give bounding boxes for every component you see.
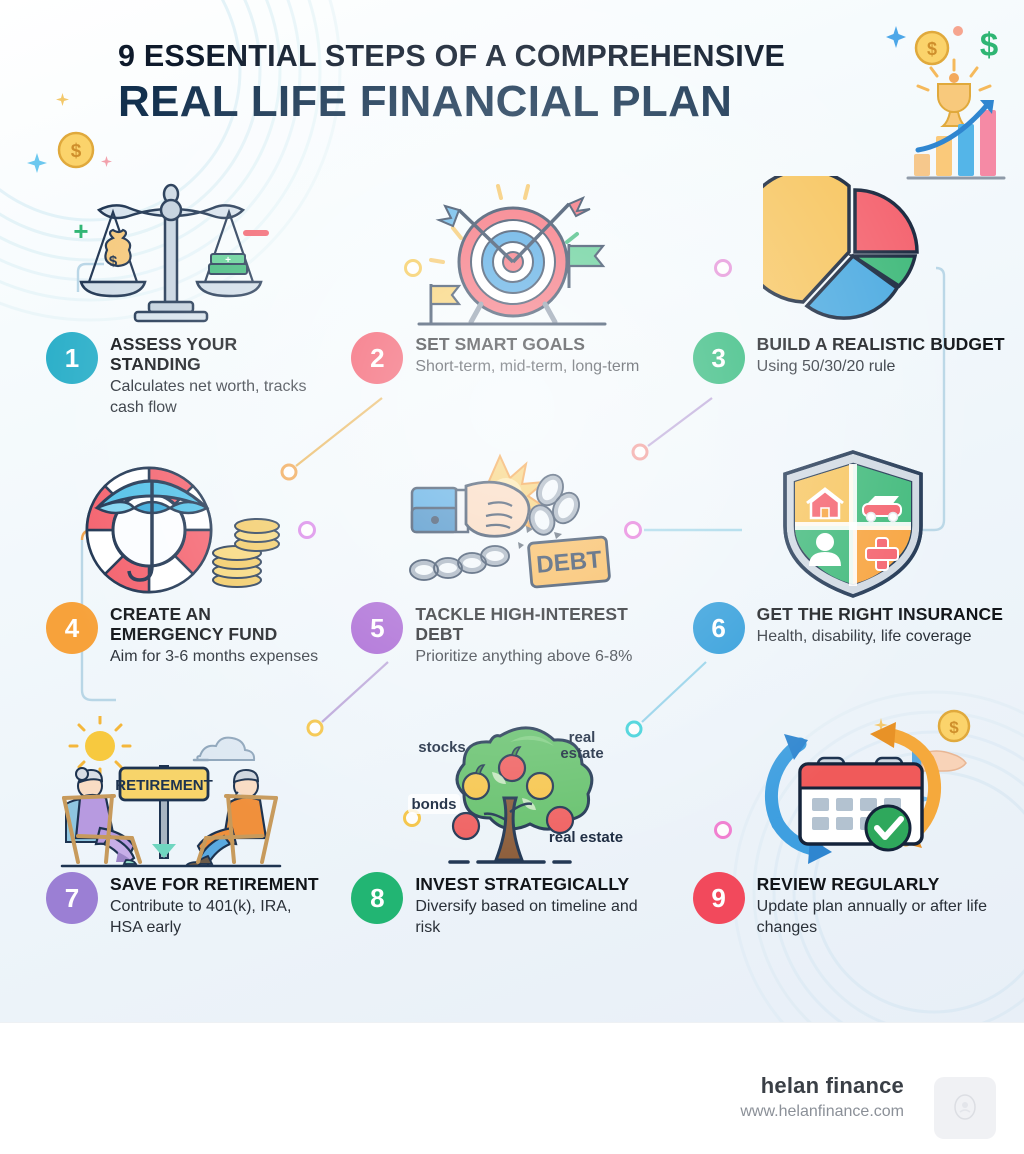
step-4-illustration — [0, 448, 341, 598]
svg-text:$: $ — [108, 253, 117, 270]
step-card-8[interactable]: stocks real estate bonds real estate 8 I… — [341, 718, 682, 988]
header: 9 ESSENTIAL STEPS OF A COMPREHENSIVE REA… — [0, 38, 1024, 168]
step-1-illustration: + $ + — [0, 178, 341, 328]
svg-text:+: + — [225, 255, 231, 266]
step-8-illustration: stocks real estate bonds real estate — [341, 718, 682, 868]
step-9-illustration — [683, 718, 1024, 868]
step-card-3[interactable]: 3 BUILD A REALISTIC BUDGET Using 50/30/2… — [683, 178, 1024, 448]
page-title-line2: REAL LIFE FINANCIAL PLAN — [118, 77, 918, 126]
step-3-illustration — [683, 178, 1024, 328]
step-7-number: 7 — [65, 885, 79, 911]
brand-name: helan finance — [740, 1073, 904, 1099]
step-1-number: 1 — [65, 345, 79, 371]
step-card-5[interactable]: DEBT 5 TACKLE HIGH-INTEREST DEBT Priorit… — [341, 448, 682, 718]
step-3-number-badge: 3 — [693, 332, 745, 384]
footer: helan finance www.helanfinance.com — [0, 1022, 1024, 1154]
step-2-number-badge: 2 — [351, 332, 403, 384]
retirement-couple-icon: RETIREMENT — [56, 716, 286, 871]
step-4-title: CREATE AN EMERGENCY FUND — [110, 604, 325, 644]
step-6-title: GET THE RIGHT INSURANCE — [757, 604, 1003, 624]
step-8-number-badge: 8 — [351, 872, 403, 924]
tree-label-bonds: bonds — [411, 796, 456, 813]
step-9-desc: Update plan annually or after life chang… — [757, 897, 1008, 938]
step-5-title: TACKLE HIGH-INTEREST DEBT — [415, 604, 666, 644]
step-4-desc: Aim for 3-6 months expenses — [110, 647, 325, 667]
step-9-number-badge: 9 — [693, 872, 745, 924]
step-1-title: ASSESS YOUR STANDING — [110, 334, 325, 374]
step-5-number: 5 — [370, 615, 384, 641]
tree-label-real-estate-top: real — [569, 729, 596, 746]
brand-url[interactable]: www.helanfinance.com — [740, 1103, 904, 1121]
step-6-desc: Health, disability, life coverage — [757, 627, 1003, 647]
target-arrows-icon — [397, 176, 627, 331]
shield-coverage-icon — [763, 446, 943, 601]
step-6-number-badge: 6 — [693, 602, 745, 654]
step-4-number-badge: 4 — [46, 602, 98, 654]
tree-label-real-estate-bottom: real estate — [549, 829, 623, 846]
step-3-title: BUILD A REALISTIC BUDGET — [757, 334, 1005, 354]
tree-label-stocks: stocks — [418, 739, 466, 756]
debt-tag-label: DEBT — [535, 546, 603, 579]
placeholder-logo-icon — [952, 1093, 978, 1123]
steps-grid: + $ + — [0, 178, 1024, 1008]
step-9-title: REVIEW REGULARLY — [757, 874, 1008, 894]
step-5-desc: Prioritize anything above 6-8% — [415, 647, 666, 667]
svg-text:+: + — [73, 216, 88, 246]
step-2-number: 2 — [370, 345, 384, 371]
step-card-4[interactable]: 4 CREATE AN EMERGENCY FUND Aim for 3-6 m… — [0, 448, 341, 718]
fist-breaking-chain-icon: DEBT — [402, 446, 622, 601]
step-1-number-badge: 1 — [46, 332, 98, 384]
step-2-title: SET SMART GOALS — [415, 334, 639, 354]
step-card-1[interactable]: + $ + — [0, 178, 341, 448]
step-card-2[interactable]: 2 SET SMART GOALS Short-term, mid-term, … — [341, 178, 682, 448]
step-card-9[interactable]: 9 REVIEW REGULARLY Update plan annually … — [683, 718, 1024, 988]
step-9-number: 9 — [711, 885, 725, 911]
step-card-7[interactable]: RETIREMENT — [0, 718, 341, 988]
svg-text:estate: estate — [560, 745, 603, 762]
step-8-number: 8 — [370, 885, 384, 911]
step-3-number: 3 — [711, 345, 725, 371]
brand-block: helan finance www.helanfinance.com — [740, 1073, 904, 1121]
step-7-title: SAVE FOR RETIREMENT — [110, 874, 325, 894]
step-7-desc: Contribute to 401(k), IRA, HSA early — [110, 897, 325, 938]
infographic-canvas: $ $ $ — [0, 0, 1024, 1022]
step-8-title: INVEST STRATEGICALLY — [415, 874, 666, 894]
page-title-line1: 9 ESSENTIAL STEPS OF A COMPREHENSIVE — [118, 38, 918, 75]
pie-chart-icon — [763, 176, 943, 331]
step-2-illustration — [341, 178, 682, 328]
step-5-illustration: DEBT — [341, 448, 682, 598]
step-8-desc: Diversify based on timeline and risk — [415, 897, 666, 938]
step-1-desc: Calculates net worth, tracks cash flow — [110, 377, 325, 418]
calendar-refresh-icon — [748, 716, 958, 871]
retirement-sign-label: RETIREMENT — [115, 777, 213, 794]
step-7-illustration: RETIREMENT — [0, 718, 341, 868]
balance-scale-icon: + $ + — [51, 178, 291, 328]
step-4-number: 4 — [65, 615, 79, 641]
step-5-number-badge: 5 — [351, 602, 403, 654]
step-2-desc: Short-term, mid-term, long-term — [415, 357, 639, 377]
step-6-illustration — [683, 448, 1024, 598]
step-6-number: 6 — [711, 615, 725, 641]
step-3-desc: Using 50/30/20 rule — [757, 357, 1005, 377]
infographic-page: $ $ $ — [0, 0, 1024, 1154]
step-card-6[interactable]: 6 GET THE RIGHT INSURANCE Health, disabi… — [683, 448, 1024, 718]
step-7-number-badge: 7 — [46, 872, 98, 924]
brand-logo — [934, 1077, 996, 1139]
umbrella-lifering-coins-icon — [61, 446, 281, 601]
investment-tree-icon: stocks real estate bonds real estate — [392, 716, 632, 871]
